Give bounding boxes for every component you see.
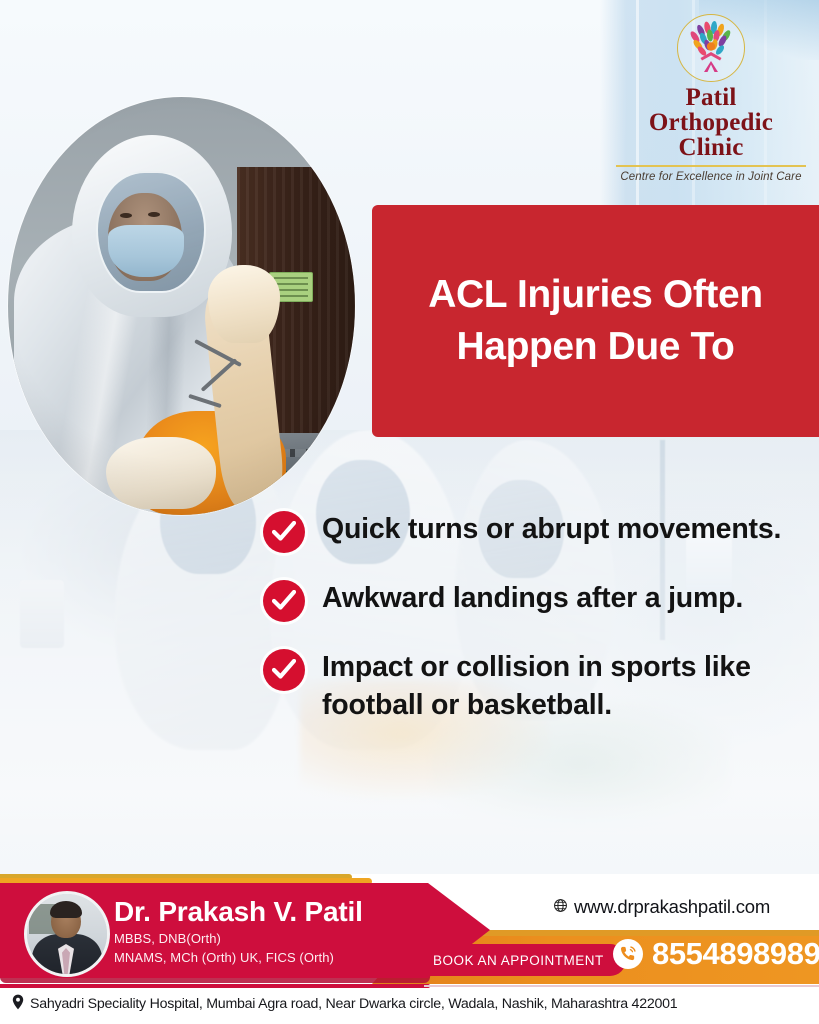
headline-line-2: Happen Due To	[388, 321, 803, 373]
check-mark-icon	[263, 649, 305, 691]
list-item-text: Awkward landings after a jump.	[322, 577, 743, 617]
check-mark-icon	[263, 580, 305, 622]
people-tree-icon	[677, 14, 745, 82]
acl-injuries-poster: Patil Orthopedic Clinic Centre for Excel…	[0, 0, 819, 1024]
logo-name-line-1: Patil	[606, 85, 816, 110]
phone-number: 8554898989	[652, 936, 819, 972]
map-pin-icon	[12, 994, 24, 1014]
globe-icon	[553, 896, 568, 918]
address-divider-right	[424, 985, 819, 987]
logo-tagline: Centre for Excellence in Joint Care	[606, 171, 816, 183]
logo-name-line-2: Orthopedic	[606, 110, 816, 135]
address-text: Sahyadri Speciality Hospital, Mumbai Agr…	[30, 996, 677, 1012]
list-item: Quick turns or abrupt movements.	[263, 508, 808, 553]
list-item: Impact or collision in sports like footb…	[263, 646, 808, 724]
reasons-list: Quick turns or abrupt movements. Awkward…	[263, 508, 808, 724]
clinic-logo: Patil Orthopedic Clinic Centre for Excel…	[606, 14, 816, 183]
doctor-avatar	[24, 891, 110, 977]
doctor-name: Dr. Prakash V. Patil	[114, 896, 363, 928]
address-divider	[0, 984, 430, 988]
headline-banner: ACL Injuries Often Happen Due To	[372, 205, 819, 437]
headline-line-1: ACL Injuries Often	[388, 269, 803, 321]
check-mark-icon	[263, 511, 305, 553]
logo-divider	[616, 165, 806, 167]
book-appointment-label: BOOK AN APPOINTMENT	[433, 953, 604, 968]
background-lower-fade	[0, 790, 819, 885]
website-link[interactable]: www.drprakashpatil.com	[553, 896, 770, 918]
phone-contact[interactable]: 8554898989	[613, 936, 819, 972]
book-appointment-button[interactable]: BOOK AN APPOINTMENT	[411, 944, 626, 976]
clinic-address: Sahyadri Speciality Hospital, Mumbai Agr…	[12, 994, 677, 1014]
logo-name-line-3: Clinic	[606, 135, 816, 160]
list-item-text: Impact or collision in sports like footb…	[322, 646, 808, 724]
list-item-text: Quick turns or abrupt movements.	[322, 508, 781, 548]
footer-bar: Dr. Prakash V. Patil MBBS, DNB(Orth) MNA…	[0, 874, 819, 1024]
hero-surgeon-photo	[8, 97, 355, 515]
phone-ringing-icon	[613, 939, 643, 969]
doctor-degrees-line-2: MNAMS, MCh (Orth) UK, FICS (Orth)	[114, 950, 334, 965]
headline-block: ACL Injuries Often Happen Due To	[372, 269, 819, 373]
doctor-degrees-line-1: MBBS, DNB(Orth)	[114, 931, 221, 946]
list-item: Awkward landings after a jump.	[263, 577, 808, 622]
website-url: www.drprakashpatil.com	[574, 896, 770, 918]
